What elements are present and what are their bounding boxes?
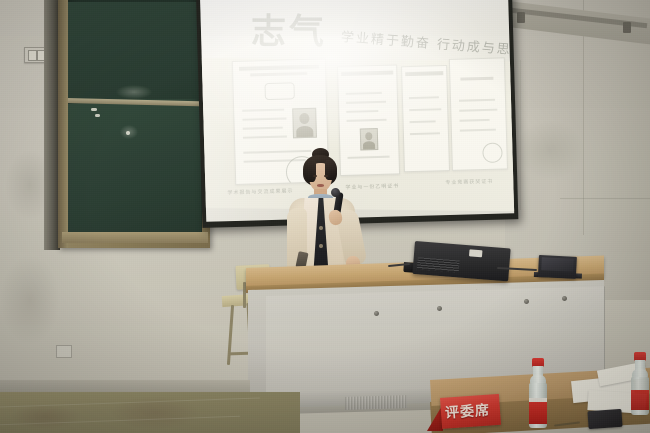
- chalkboard-left-edge: [58, 0, 68, 248]
- judge-nameplate[interactable]: 评委席: [427, 398, 499, 432]
- coat-button-2: [319, 244, 323, 248]
- certificate-field-line: [409, 108, 441, 111]
- certificate-field-line: [346, 110, 378, 113]
- certificate-field-line: [242, 118, 286, 121]
- wall-seam-horizontal: [560, 198, 650, 199]
- eye-right: [324, 175, 328, 177]
- certificate-field-line: [346, 101, 386, 104]
- console-vent-grille: [417, 257, 460, 272]
- wall-smudge-3: [0, 255, 60, 345]
- id-photo-shoulders: [296, 126, 313, 138]
- cabinet-lock-2[interactable]: [437, 306, 442, 311]
- wall-power-outlet[interactable]: [56, 345, 72, 358]
- cabinet-lock-4[interactable]: [562, 296, 567, 301]
- certificate-field-line: [243, 127, 283, 130]
- certificate-heading-line: [342, 71, 393, 76]
- chalk-tray: [62, 232, 208, 243]
- cabinet-lock-3[interactable]: [524, 299, 529, 304]
- certificate-field-line: [459, 99, 495, 102]
- certificate-field-line: [410, 120, 436, 123]
- rail-bracket-right: [623, 22, 631, 33]
- certificate-id-photo: [292, 108, 317, 139]
- slide-title: 志气: [251, 3, 327, 55]
- small-laptop[interactable]: [538, 255, 577, 279]
- certificate-field-line: [410, 132, 440, 135]
- certificate-field-line: [346, 92, 382, 95]
- certificate-field-line: [347, 119, 387, 122]
- classroom-photo: 志气 学业精于勤奋 行动成与思考: [0, 0, 650, 433]
- certificate-heading-line: [460, 77, 494, 81]
- certificate-subheading-line: [250, 72, 307, 77]
- console-label-tag: [469, 249, 483, 257]
- certificate-seal-icon: [264, 82, 294, 100]
- hair-fringe-left: [304, 160, 316, 182]
- certificate-seal-icon: [482, 143, 503, 164]
- water-bottle-secondary[interactable]: [629, 352, 649, 414]
- hair-fringe-right: [325, 160, 337, 180]
- mouth: [317, 184, 324, 187]
- wall-smudge-2: [515, 120, 585, 180]
- chalkboard-panel-lower: [67, 104, 201, 232]
- certificate-field-line: [460, 129, 496, 132]
- certificate-field-line: [460, 119, 490, 122]
- floor-stain-2: [10, 404, 80, 430]
- chalk-piece-2[interactable]: [95, 114, 100, 117]
- chalk-piece-1[interactable]: [91, 108, 97, 111]
- certificate-heading-line: [239, 65, 320, 71]
- id-photo-head: [299, 113, 309, 124]
- cabinet-lock-1[interactable]: [374, 311, 379, 316]
- slide-certificate-3: [401, 65, 450, 172]
- slide-caption-right: 专业竞赛获奖证书: [445, 178, 493, 186]
- emblem-top: [365, 132, 373, 140]
- water-bottle[interactable]: [527, 358, 549, 430]
- certificate-field-line: [459, 109, 497, 112]
- certificate-field-line: [409, 96, 439, 99]
- small-laptop-screen: [541, 257, 574, 272]
- chalk-piece-3[interactable]: [126, 131, 130, 135]
- certificate-field-line: [242, 109, 284, 112]
- nameplate-text: 评委席: [444, 399, 497, 423]
- nameplate-face: 评委席: [440, 394, 501, 429]
- bottle-label: [631, 390, 649, 410]
- slide-certificate-4: [449, 57, 508, 171]
- rail-bracket-left: [517, 12, 525, 23]
- coat-button-1: [319, 226, 323, 230]
- eye-left: [313, 175, 317, 177]
- chalk-dust-1: [116, 85, 152, 99]
- slide-subtitle: 学业精于勤奋 行动成与思考: [340, 26, 514, 59]
- certificate-field-line: [243, 136, 287, 139]
- switch-toggle-1[interactable]: [28, 50, 37, 61]
- bottle-label: [529, 402, 547, 424]
- certificate-heading-line: [405, 71, 444, 76]
- black-folder[interactable]: [587, 409, 622, 429]
